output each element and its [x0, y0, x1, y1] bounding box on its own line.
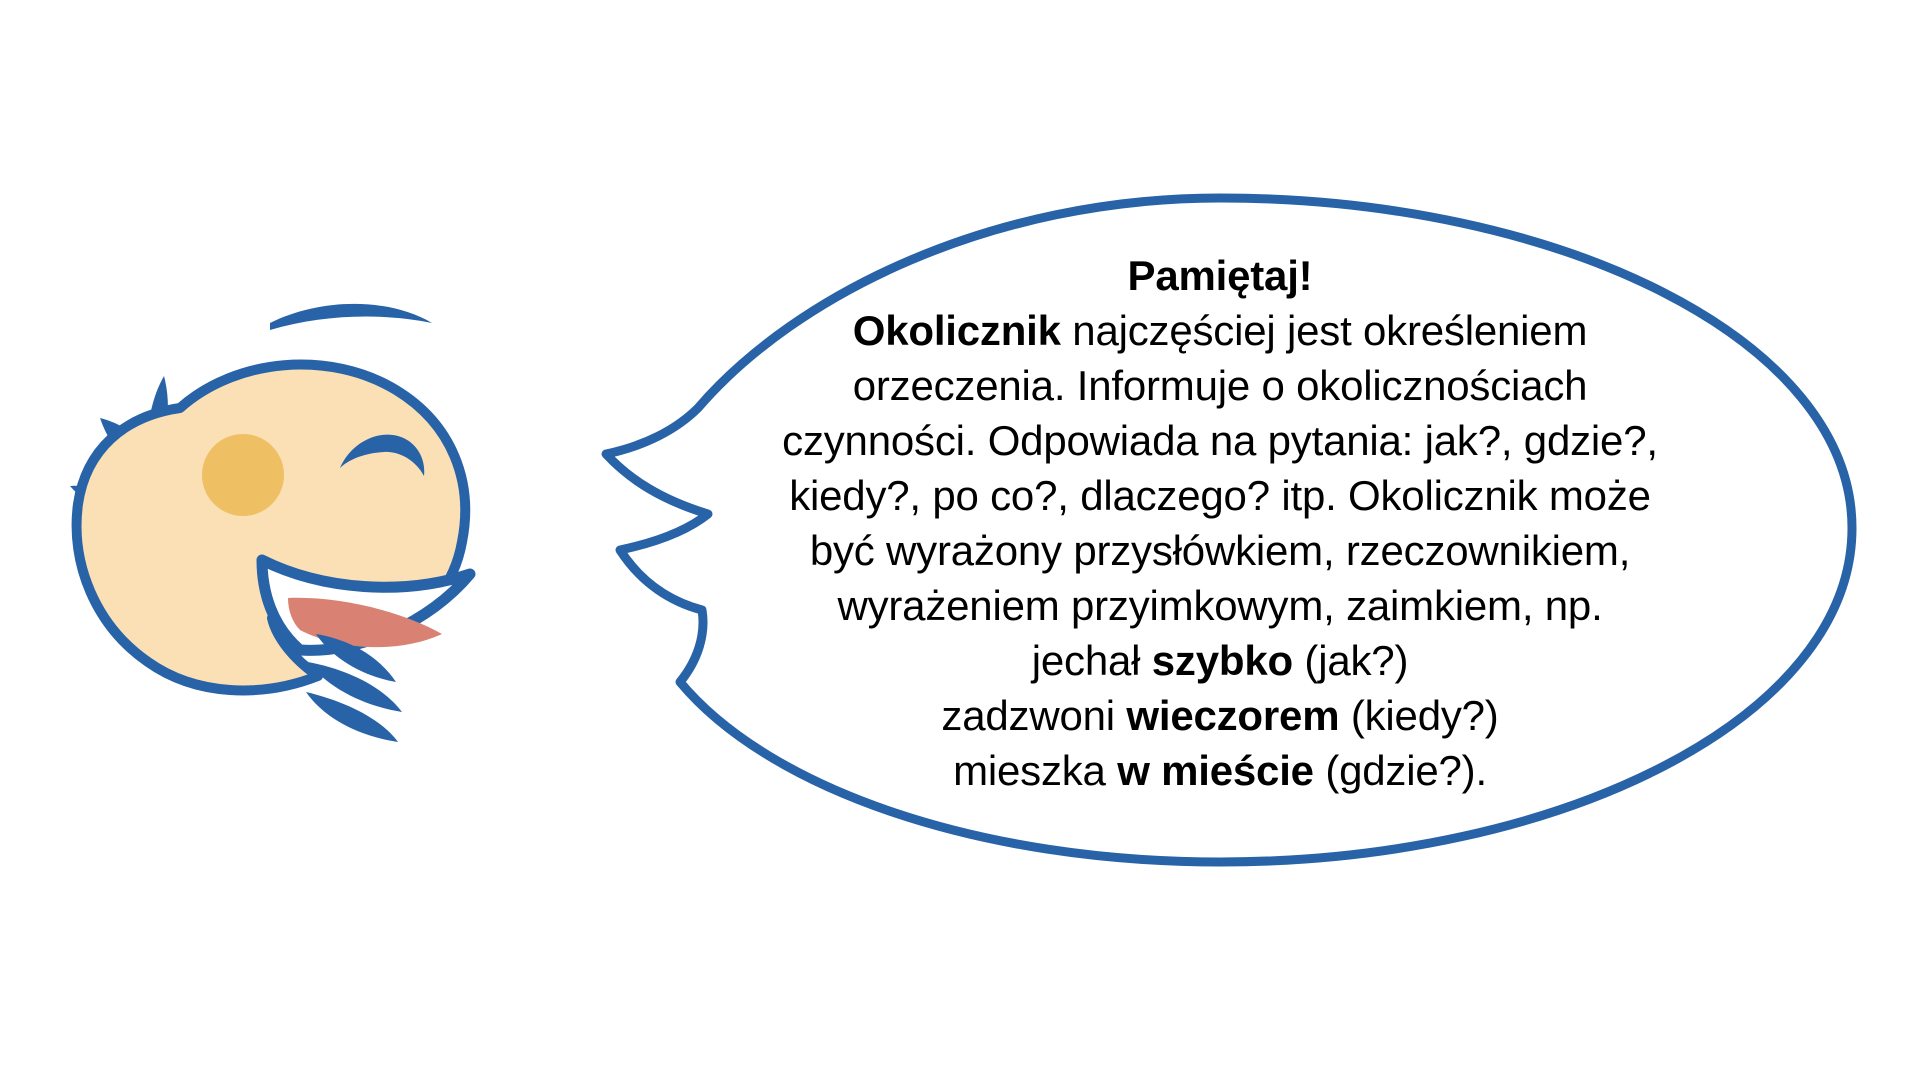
text-line-10-example-gdzie: mieszka w mieście (gdzie?).: [690, 743, 1750, 798]
text-line-1: Pamiętaj!: [690, 248, 1750, 303]
bold-w-miescie: w mieście: [1117, 747, 1314, 794]
bubble-text-block: Pamiętaj! Okolicznik najczęściej jest ok…: [690, 248, 1750, 798]
text-line-8-example-jak: jechał szybko (jak?): [690, 633, 1750, 688]
bold-okolicznik: Okolicznik: [853, 307, 1061, 354]
text-line-3: orzeczenia. Informuje o okolicznościach: [690, 358, 1750, 413]
text-line-6: być wyrażony przysłówkiem, rzeczownikiem…: [690, 523, 1750, 578]
hair-swoosh-icon: [270, 304, 432, 330]
text-line-2: Okolicznik najczęściej jest określeniem: [690, 303, 1750, 358]
text-line-7: wyrażeniem przyimkowym, zaimkiem, np.: [690, 578, 1750, 633]
slide-canvas: Pamiętaj! Okolicznik najczęściej jest ok…: [0, 0, 1920, 1080]
bold-szybko: szybko: [1152, 637, 1293, 684]
mascot-cheek: [202, 434, 284, 516]
bold-wieczorem: wieczorem: [1126, 692, 1339, 739]
text-line-5: kiedy?, po co?, dlaczego? itp. Okoliczni…: [690, 468, 1750, 523]
text-line-4: czynności. Odpowiada na pytania: jak?, g…: [690, 413, 1750, 468]
mascot-illustration: [0, 230, 560, 790]
text-line-9-example-kiedy: zadzwoni wieczorem (kiedy?): [690, 688, 1750, 743]
